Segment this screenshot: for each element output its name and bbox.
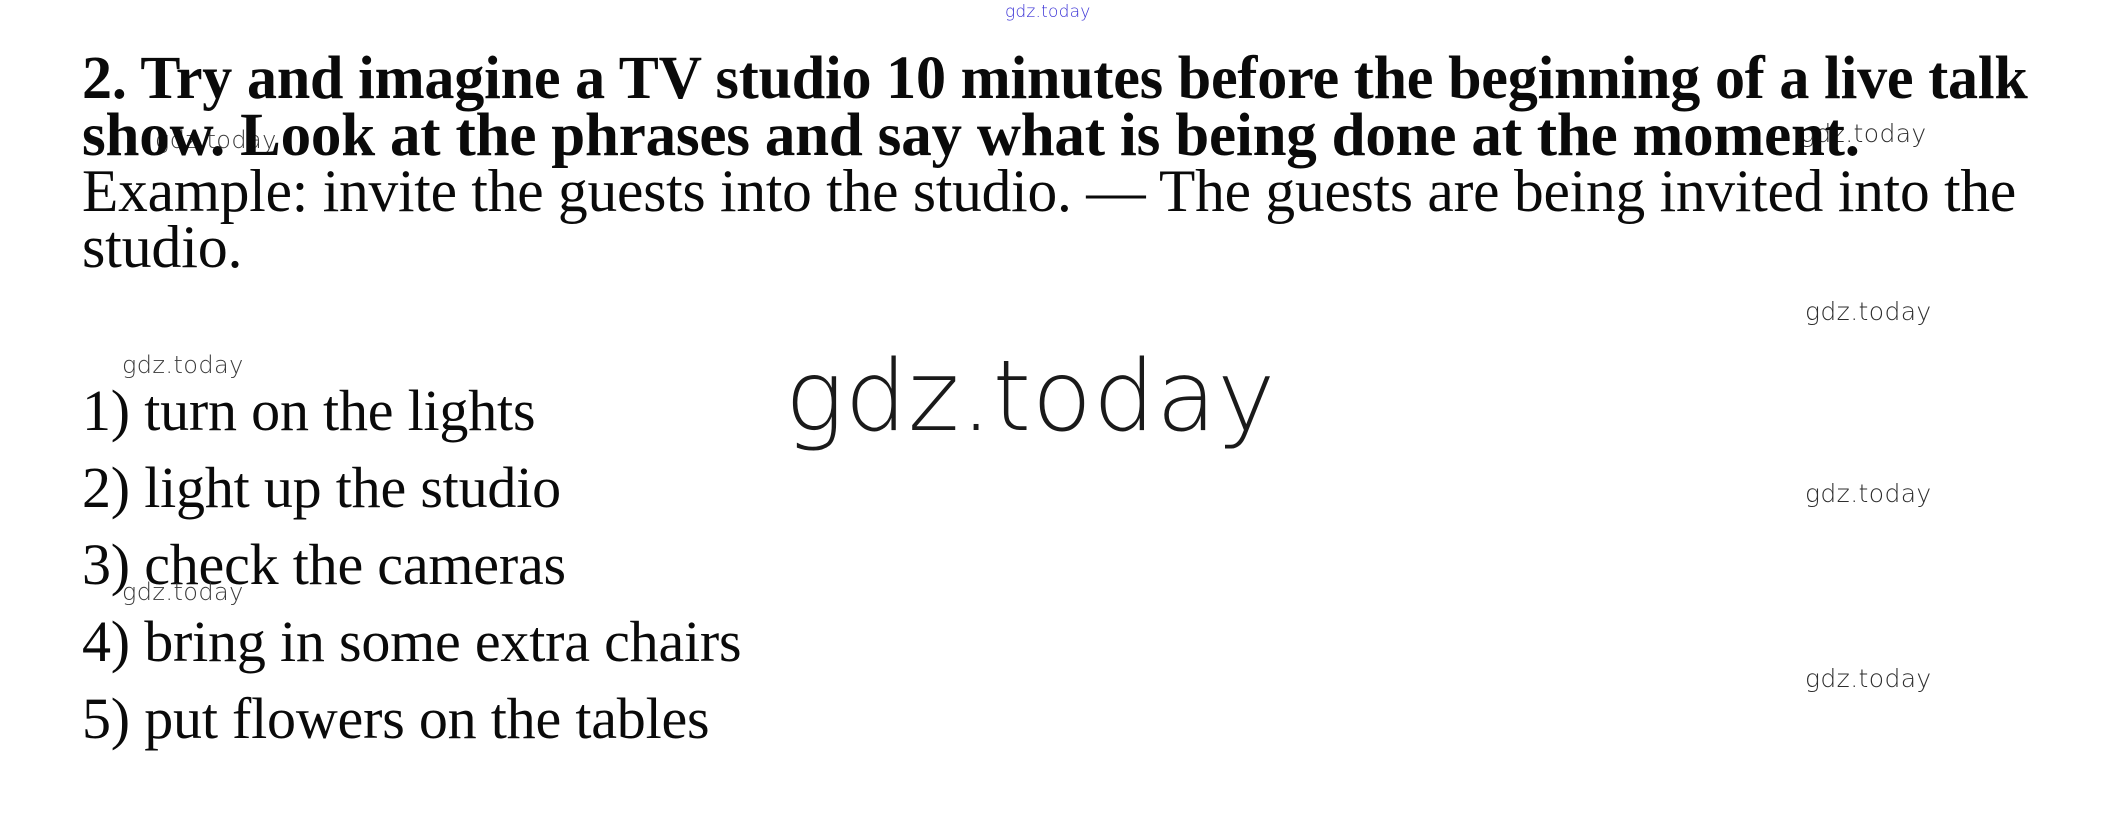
watermark-left-list-one: gdz.today	[122, 351, 244, 379]
exercise-example-line-1: Example: invite the guests into the stud…	[82, 157, 1983, 226]
list-item-2: 2) light up the studio	[82, 454, 561, 521]
list-item-5: 5) put flowers on the tables	[82, 685, 709, 752]
watermark-top-center: gdz.today	[1005, 2, 1090, 22]
list-item-1: 1) turn on the lights	[82, 377, 535, 444]
exercise-example-line-2: studio.	[82, 213, 242, 282]
list-item-3: 3) check the cameras	[82, 531, 566, 598]
watermark-right-fourth: gdz.today	[1805, 664, 1932, 693]
watermark-right-second: gdz.today	[1805, 297, 1932, 326]
list-item-4: 4) bring in some extra chairs	[82, 608, 741, 675]
document-page: gdz.today 2. Try and imagine a TV studio…	[0, 0, 2106, 839]
watermark-right-third: gdz.today	[1805, 479, 1932, 508]
watermark-center-large: gdz.today	[785, 340, 1276, 454]
